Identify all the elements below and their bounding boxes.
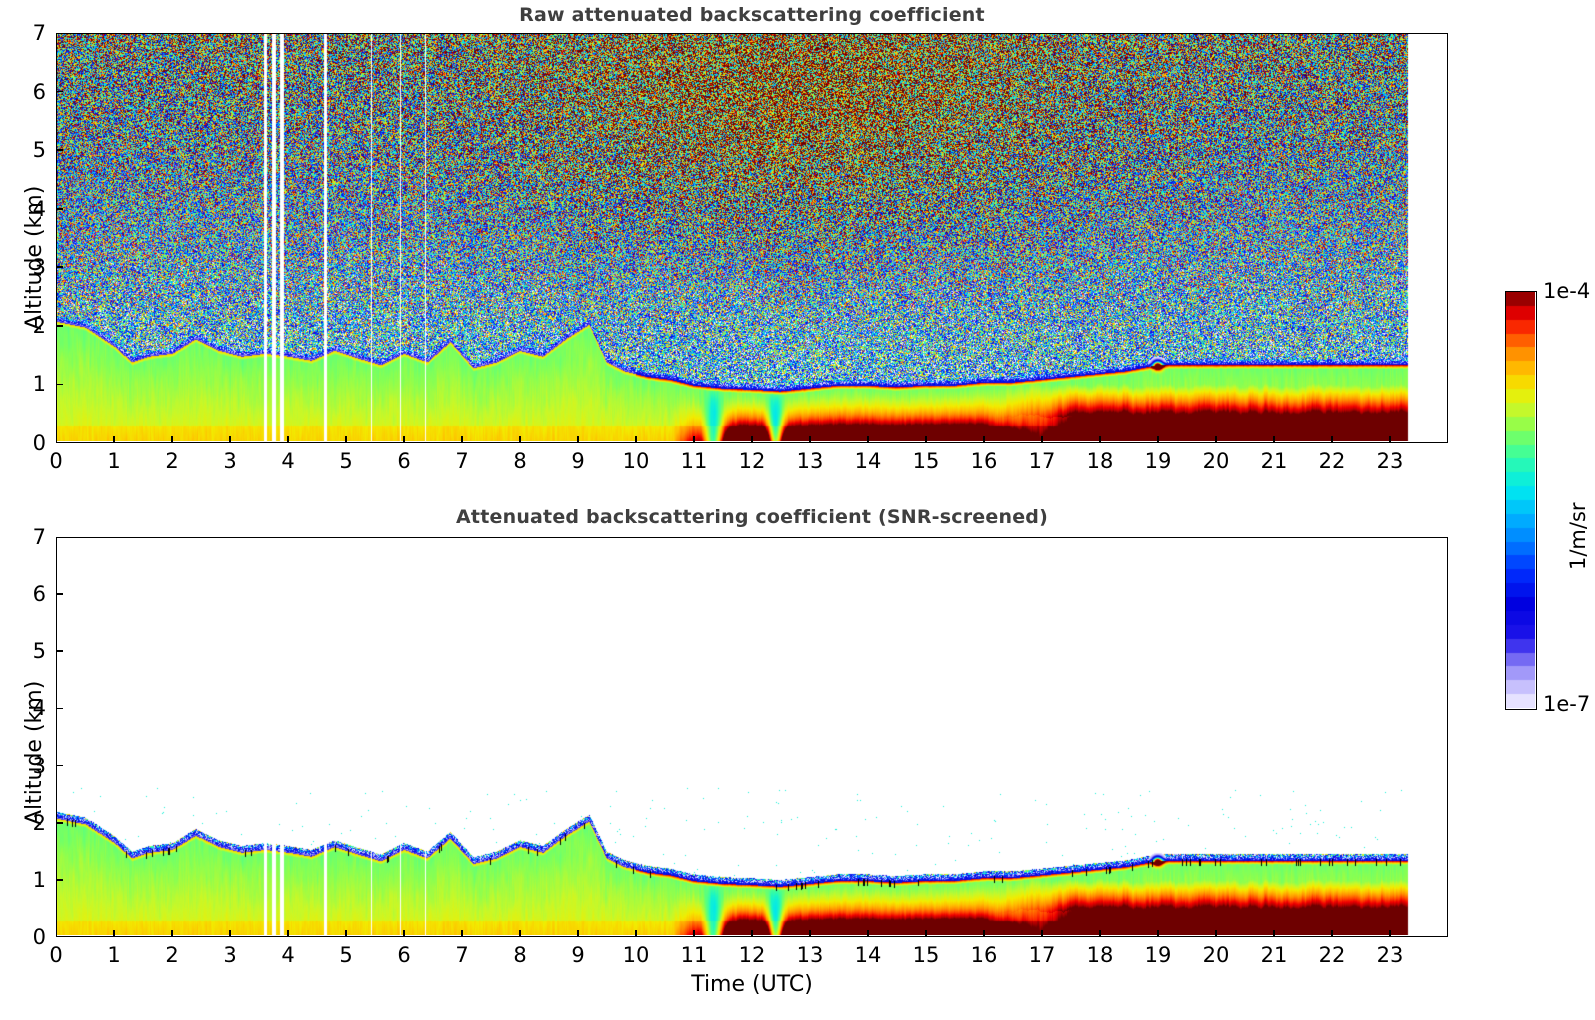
x-tick-label: 2 (165, 943, 178, 967)
x-tick-label: 5 (339, 449, 352, 473)
panel-screened-heatmap (57, 538, 1446, 935)
x-tick-mark (1389, 930, 1391, 937)
x-tick-label: 3 (223, 449, 236, 473)
x-tick-label: 16 (971, 943, 998, 967)
x-tick-label: 18 (1087, 943, 1114, 967)
x-tick-label: 0 (49, 943, 62, 967)
panel-raw-axes (56, 33, 1448, 443)
x-tick-mark (693, 930, 695, 937)
x-tick-label: 17 (1029, 449, 1056, 473)
y-tick-mark (56, 208, 63, 210)
x-tick-mark (1273, 930, 1275, 937)
x-tick-label: 11 (681, 449, 708, 473)
x-tick-label: 3 (223, 943, 236, 967)
x-tick-mark (983, 930, 985, 937)
x-tick-label: 4 (281, 449, 294, 473)
y-tick-mark (56, 325, 63, 327)
x-tick-mark (519, 930, 521, 937)
y-tick-mark (56, 266, 63, 268)
y-tick-mark (56, 91, 63, 93)
x-tick-label: 7 (455, 449, 468, 473)
y-tick-label: 7 (12, 21, 46, 45)
x-tick-mark (577, 436, 579, 443)
x-tick-mark (1099, 436, 1101, 443)
panel-screened-axes (56, 537, 1448, 937)
x-tick-mark (809, 436, 811, 443)
x-tick-mark (635, 436, 637, 443)
y-tick-label: 0 (12, 925, 46, 949)
x-tick-label: 15 (913, 449, 940, 473)
x-tick-mark (925, 436, 927, 443)
y-tick-label: 5 (12, 138, 46, 162)
x-tick-mark (1099, 930, 1101, 937)
x-tick-mark (1157, 930, 1159, 937)
y-tick-mark (56, 879, 63, 881)
y-tick-mark (56, 593, 63, 595)
y-tick-label: 0 (12, 431, 46, 455)
x-tick-mark (925, 930, 927, 937)
x-tick-mark (403, 930, 405, 937)
x-tick-label: 9 (571, 943, 584, 967)
x-tick-mark (345, 436, 347, 443)
x-tick-label: 20 (1203, 943, 1230, 967)
x-tick-label: 1 (107, 943, 120, 967)
x-tick-label: 16 (971, 449, 998, 473)
x-tick-mark (867, 436, 869, 443)
y-tick-label: 6 (12, 80, 46, 104)
panel-raw-title: Raw attenuated backscattering coefficien… (56, 4, 1448, 26)
x-tick-mark (461, 930, 463, 937)
x-tick-mark (1215, 930, 1217, 937)
x-tick-mark (751, 436, 753, 443)
x-tick-label: 21 (1261, 449, 1288, 473)
x-tick-label: 1 (107, 449, 120, 473)
x-tick-mark (229, 436, 231, 443)
x-tick-label: 14 (855, 943, 882, 967)
x-tick-mark (1041, 930, 1043, 937)
x-tick-label: 23 (1377, 943, 1404, 967)
x-tick-mark (171, 930, 173, 937)
x-tick-mark (867, 930, 869, 937)
y-tick-label: 1 (12, 372, 46, 396)
panel-raw-heatmap (57, 34, 1446, 441)
x-tick-mark (287, 930, 289, 937)
y-tick-label: 6 (12, 582, 46, 606)
x-tick-mark (1273, 436, 1275, 443)
x-tick-label: 15 (913, 943, 940, 967)
x-tick-mark (809, 930, 811, 937)
y-tick-label: 5 (12, 639, 46, 663)
panel-raw-y-axis-label: Altitude (km) (22, 186, 47, 330)
x-tick-mark (113, 436, 115, 443)
x-tick-label: 6 (397, 449, 410, 473)
y-tick-mark (56, 765, 63, 767)
x-tick-mark (113, 930, 115, 937)
x-tick-mark (577, 930, 579, 937)
x-tick-label: 12 (739, 449, 766, 473)
x-tick-mark (693, 436, 695, 443)
y-tick-label: 7 (12, 525, 46, 549)
y-tick-mark (56, 822, 63, 824)
x-tick-label: 13 (797, 449, 824, 473)
x-tick-label: 19 (1145, 449, 1172, 473)
x-tick-label: 2 (165, 449, 178, 473)
x-tick-mark (1041, 436, 1043, 443)
x-tick-label: 18 (1087, 449, 1114, 473)
x-tick-mark (403, 436, 405, 443)
colorbar-canvas (1506, 292, 1535, 708)
y-tick-mark (56, 149, 63, 151)
x-tick-mark (1157, 436, 1159, 443)
x-tick-mark (1389, 436, 1391, 443)
x-tick-label: 14 (855, 449, 882, 473)
x-tick-mark (1331, 930, 1333, 937)
x-tick-label: 21 (1261, 943, 1288, 967)
colorbar-max-label: 1e-4 (1543, 279, 1590, 303)
x-tick-label: 5 (339, 943, 352, 967)
panel-screened-y-axis-label: Altitude (km) (22, 681, 47, 825)
x-tick-label: 17 (1029, 943, 1056, 967)
colorbar-min-label: 1e-7 (1543, 692, 1590, 716)
x-tick-label: 10 (623, 943, 650, 967)
colorbar-gradient (1505, 291, 1537, 710)
x-tick-label: 0 (49, 449, 62, 473)
x-tick-label: 9 (571, 449, 584, 473)
x-tick-label: 19 (1145, 943, 1172, 967)
x-tick-label: 7 (455, 943, 468, 967)
x-tick-label: 6 (397, 943, 410, 967)
panel-screened-title: Attenuated backscattering coefficient (S… (56, 506, 1448, 528)
x-tick-mark (519, 436, 521, 443)
x-tick-label: 10 (623, 449, 650, 473)
x-tick-mark (1215, 436, 1217, 443)
x-tick-mark (171, 436, 173, 443)
x-tick-label: 8 (513, 449, 526, 473)
x-tick-label: 8 (513, 943, 526, 967)
x-tick-label: 4 (281, 943, 294, 967)
y-tick-label: 1 (12, 868, 46, 892)
x-tick-label: 13 (797, 943, 824, 967)
x-tick-label: 12 (739, 943, 766, 967)
x-tick-label: 20 (1203, 449, 1230, 473)
x-tick-mark (345, 930, 347, 937)
x-tick-label: 11 (681, 943, 708, 967)
x-tick-mark (751, 930, 753, 937)
x-tick-label: 22 (1319, 943, 1346, 967)
x-tick-mark (229, 930, 231, 937)
colorbar-unit-label: 1/m/sr (1566, 502, 1590, 570)
x-tick-mark (1331, 436, 1333, 443)
x-tick-label: 22 (1319, 449, 1346, 473)
x-tick-mark (287, 436, 289, 443)
x-tick-mark (635, 930, 637, 937)
x-tick-label: 23 (1377, 449, 1404, 473)
y-tick-mark (56, 384, 63, 386)
y-tick-mark (56, 708, 63, 710)
x-tick-mark (983, 436, 985, 443)
x-axis-label: Time (UTC) (56, 972, 1448, 997)
x-tick-mark (461, 436, 463, 443)
y-tick-mark (56, 650, 63, 652)
